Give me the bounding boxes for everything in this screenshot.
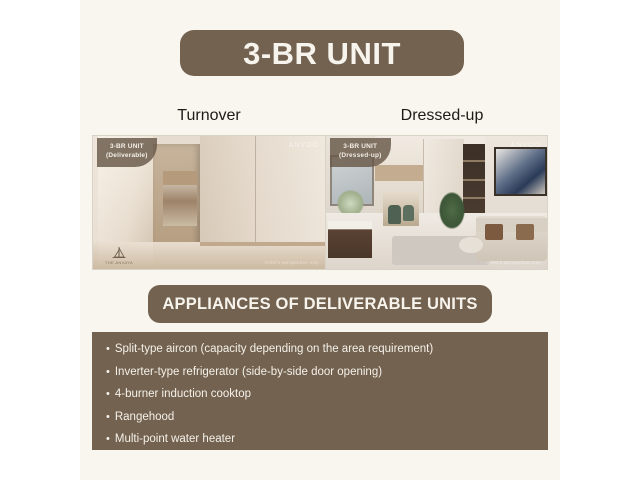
list-item-label: Multi-point water heater bbox=[115, 434, 235, 446]
bullet-marker-icon: • bbox=[106, 412, 110, 423]
slide-title-pill: 3-BR UNIT bbox=[180, 30, 464, 76]
developer-logo-text-turnover: THE ANVAYA bbox=[105, 260, 133, 265]
photo-credit-dressed-up: Artist's perspective only bbox=[486, 260, 541, 265]
dining-chair-shape-2 bbox=[403, 205, 414, 221]
list-item: • 4-burner induction cooktop bbox=[106, 389, 534, 401]
list-item-label: Rangehood bbox=[115, 412, 174, 424]
slide-canvas: 3-BR UNIT Turnover Dressed-up 3-BR UNIT … bbox=[80, 0, 560, 480]
appliances-list-panel: • Split-type aircon (capacity depending … bbox=[92, 332, 548, 450]
list-item: • Inverter-type refrigerator (side-by-si… bbox=[106, 367, 534, 379]
caption-turnover: Turnover bbox=[92, 108, 326, 124]
hall-cabinet-shape bbox=[375, 165, 424, 181]
photo-badge-turnover: 3-BR UNIT (Deliverable) bbox=[97, 138, 157, 167]
list-item-label: 4-burner induction cooktop bbox=[115, 389, 251, 401]
photo-badge-line2: (Deliverable) bbox=[106, 152, 148, 161]
kitchen-cabinet-shape bbox=[163, 171, 198, 186]
list-item-label: Split-type aircon (capacity depending on… bbox=[115, 344, 433, 356]
wall-corner-line bbox=[255, 136, 256, 250]
list-item: • Multi-point water heater bbox=[106, 434, 534, 446]
appliances-banner: APPLIANCES OF DELIVERABLE UNITS bbox=[148, 285, 492, 323]
dining-chair-shape bbox=[388, 205, 401, 224]
photo-turnover: 3-BR UNIT (Deliverable) ANVOO THE ANVAYA… bbox=[92, 135, 326, 270]
bullet-marker-icon: • bbox=[106, 434, 110, 445]
throw-pillow-shape-1 bbox=[485, 224, 503, 240]
photo-dressed-up: 3-BR UNIT (Dressed-up) ANVOO Artist's pe… bbox=[325, 135, 548, 270]
bullet-marker-icon: • bbox=[106, 367, 110, 378]
potted-palm-shape bbox=[437, 189, 468, 232]
developer-logo-turnover: THE ANVAYA bbox=[99, 246, 139, 265]
list-item-label: Inverter-type refrigerator (side-by-side… bbox=[115, 367, 382, 379]
vase-plant-shape bbox=[337, 189, 364, 213]
photo-badge-line1: 3-BR UNIT bbox=[343, 143, 377, 150]
photo-badge-line1: 3-BR UNIT bbox=[110, 143, 144, 150]
list-item: • Rangehood bbox=[106, 412, 534, 424]
photo-badge-dressed-up: 3-BR UNIT (Dressed-up) bbox=[330, 138, 391, 167]
bullet-marker-icon: • bbox=[106, 389, 110, 400]
photo-credit-turnover: Artist's perspective only bbox=[264, 260, 319, 265]
list-item: • Split-type aircon (capacity depending … bbox=[106, 344, 534, 356]
shelf-line-2 bbox=[463, 179, 485, 181]
baseboard-shape bbox=[200, 242, 325, 246]
caption-dressed-up: Dressed-up bbox=[326, 108, 558, 124]
sailboat-logo-icon bbox=[111, 246, 127, 259]
wall-artwork-shape bbox=[494, 147, 547, 196]
slide-screenshot: 3-BR UNIT Turnover Dressed-up 3-BR UNIT … bbox=[0, 0, 640, 480]
throw-pillow-shape-2 bbox=[516, 224, 534, 240]
page-title: 3-BR UNIT bbox=[243, 38, 401, 69]
console-table-shape bbox=[328, 221, 372, 258]
side-table-shape bbox=[459, 237, 483, 253]
shelf-line-1 bbox=[463, 160, 485, 162]
watermark-turnover: ANVOO bbox=[289, 142, 319, 149]
watermark-dressed-up: ANVOO bbox=[511, 142, 541, 149]
bullet-marker-icon: • bbox=[106, 344, 110, 355]
appliances-banner-label: APPLIANCES OF DELIVERABLE UNITS bbox=[162, 296, 477, 313]
photo-badge-line2: (Dressed-up) bbox=[339, 152, 382, 161]
